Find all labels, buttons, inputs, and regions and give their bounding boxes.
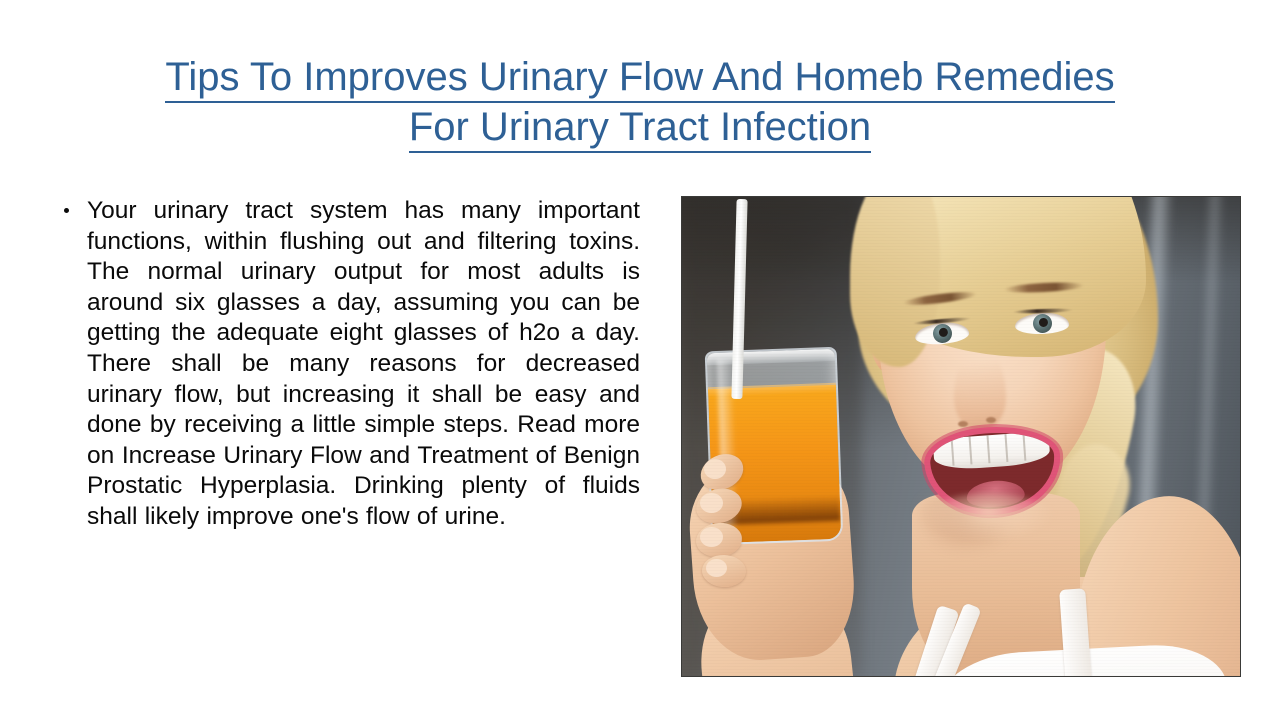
photo-woman-drinking-juice (681, 196, 1241, 677)
photo-content (682, 197, 1240, 676)
body-text-column: Your urinary tract system has many impor… (55, 196, 640, 533)
bullet-dot-icon (64, 208, 69, 213)
page-title: Tips To Improves Urinary Flow And Homeb … (128, 52, 1152, 152)
chin-highlight (916, 493, 1062, 557)
title-line-2: For Urinary Tract Infection (128, 102, 1152, 152)
bullet-text: Your urinary tract system has many impor… (87, 197, 640, 530)
title-line-1: Tips To Improves Urinary Flow And Homeb … (128, 52, 1152, 102)
slide: Tips To Improves Urinary Flow And Homeb … (0, 0, 1280, 720)
nose (954, 349, 1006, 431)
fingernail (700, 527, 723, 547)
list-item: Your urinary tract system has many impor… (55, 196, 640, 533)
fingernail (700, 493, 723, 513)
fingernail (706, 559, 727, 577)
nostril (958, 421, 968, 427)
nostril (986, 417, 996, 423)
fingernail (704, 459, 726, 479)
